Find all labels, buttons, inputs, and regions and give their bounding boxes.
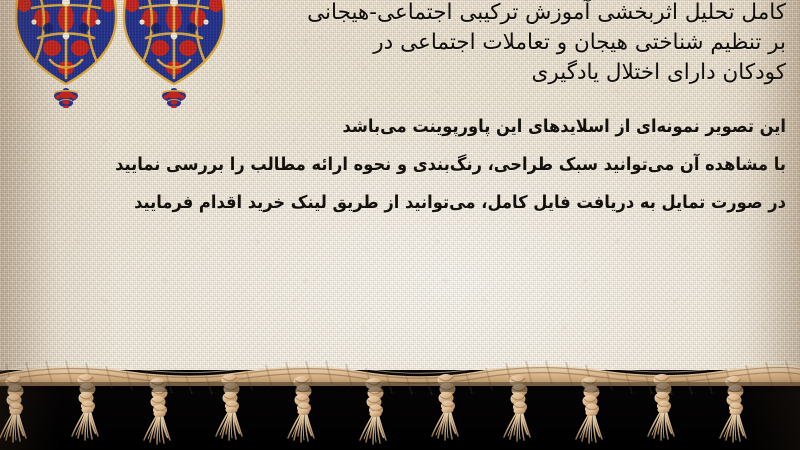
slide-title: کامل تحلیل اثربخشی آموزش ترکیبی اجتماعی-… [0, 0, 786, 88]
knotted-tassel-fringe [0, 352, 800, 450]
body-line-3: در صورت تمایل به دریافت فایل کامل، می‌تو… [53, 184, 786, 222]
slide-body-text: این تصویر نمونه‌ای از اسلایدهای این پاور… [0, 108, 786, 222]
body-line-2: با مشاهده آن می‌توانید سبک طراحی، رنگ‌بن… [53, 146, 786, 184]
title-line-2: بر تنظیم شناختی هیجان و تعاملات اجتماعی … [0, 28, 786, 58]
fringe-rope-and-tassels [0, 352, 800, 450]
title-line-3: کودکان دارای اختلال یادگیری [0, 58, 786, 88]
body-line-1: این تصویر نمونه‌ای از اسلایدهای این پاور… [53, 108, 786, 146]
slide-canvas: کامل تحلیل اثربخشی آموزش ترکیبی اجتماعی-… [0, 0, 800, 450]
title-line-1: کامل تحلیل اثربخشی آموزش ترکیبی اجتماعی-… [0, 0, 786, 28]
